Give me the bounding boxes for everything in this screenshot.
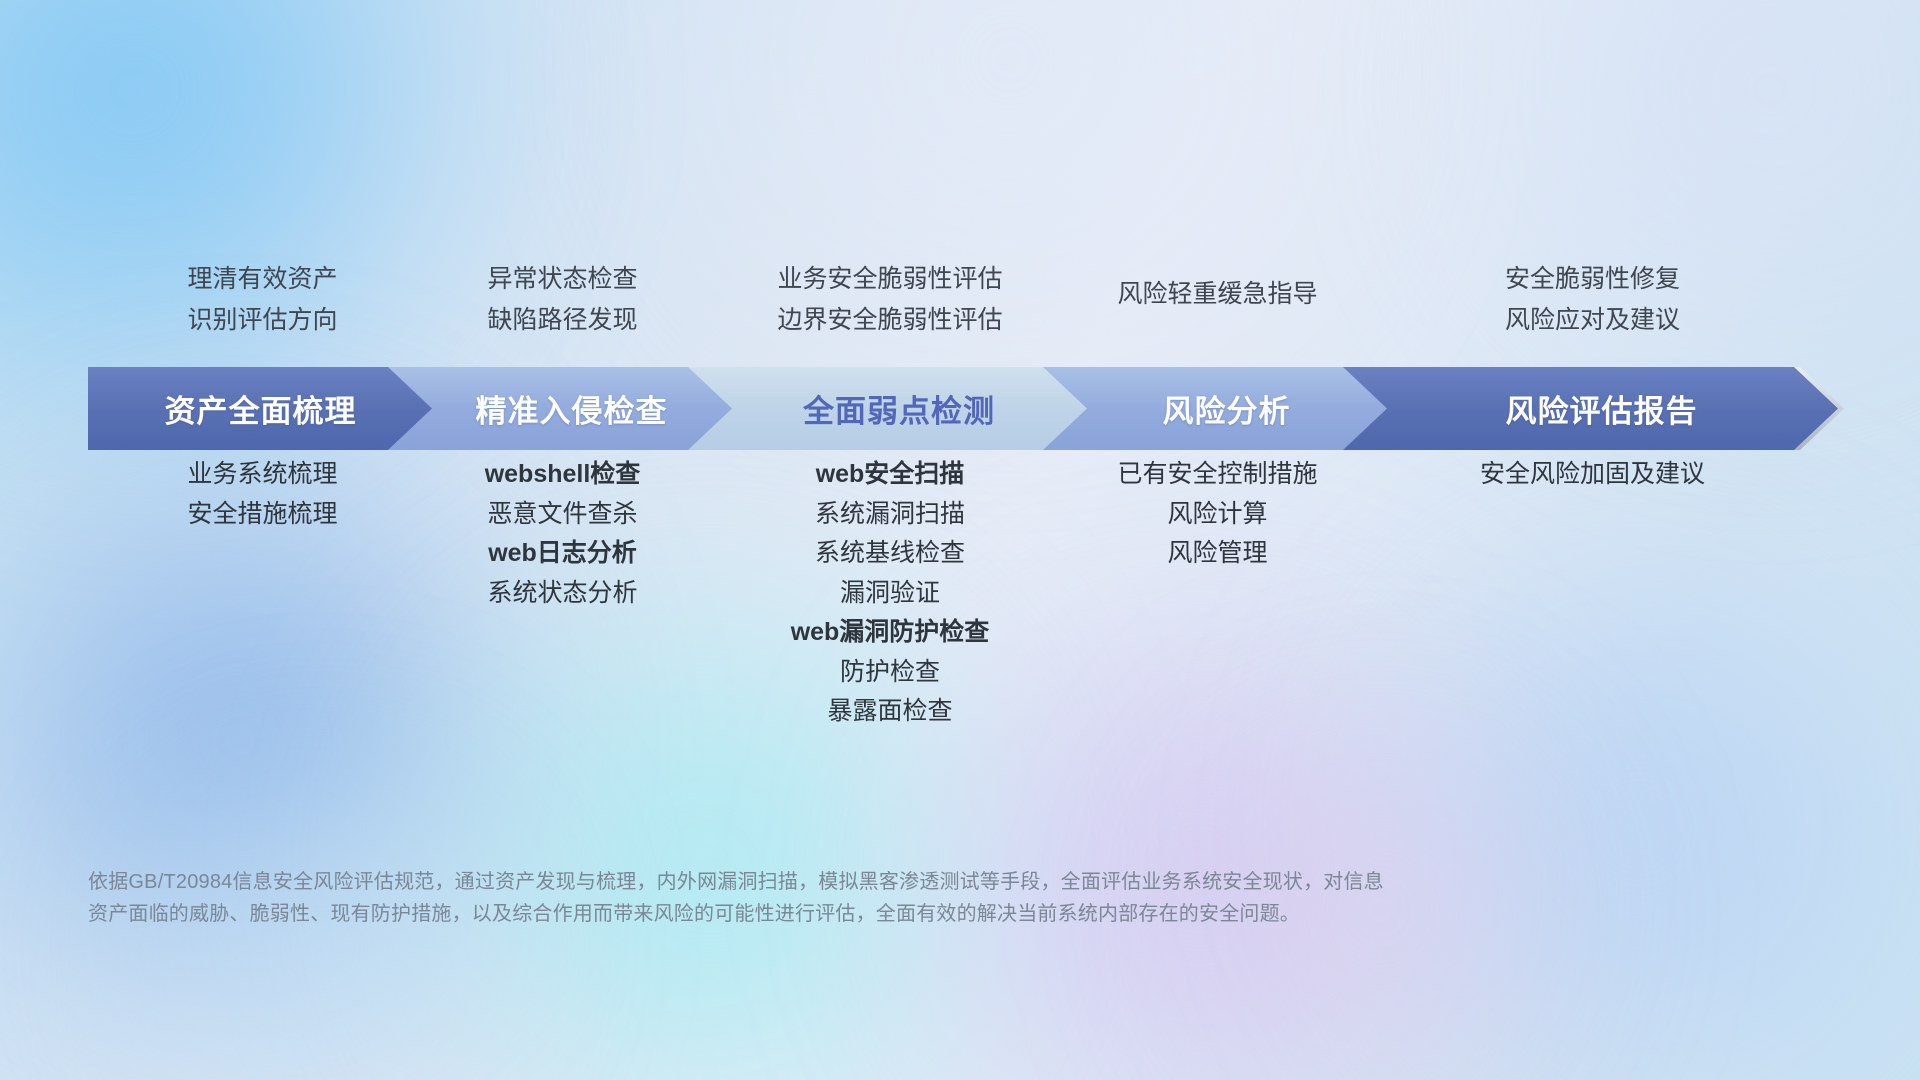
top-note-item: 异常状态检查 <box>390 259 735 300</box>
top-notes-intrusion-check: 异常状态检查缺陷路径发现 <box>390 259 735 340</box>
process-stage-asset-inventory[interactable]: 资产全面梳理 <box>88 367 433 450</box>
detail-list-item: web日志分析 <box>390 534 735 574</box>
chevron-band: 资产全面梳理精准入侵检查全面弱点检测风险分析风险评估报告 <box>88 367 1838 450</box>
footer-line-2: 资产面临的威胁、脆弱性、现有防护措施，以及综合作用而带来风险的可能性进行评估，全… <box>88 898 1588 930</box>
process-diagram: 理清有效资产识别评估方向异常状态检查缺陷路径发现业务安全脆弱性评估边界安全脆弱性… <box>0 0 1920 1080</box>
process-stage-risk-analysis[interactable]: 风险分析 <box>1043 367 1388 450</box>
detail-list-weakness-detection: web安全扫描系统漏洞扫描系统基线检查漏洞验证web漏洞防护检查防护检查暴露面检… <box>690 455 1090 732</box>
top-note-item: 安全脆弱性修复 <box>1345 259 1840 300</box>
stage-title-intrusion-check: 精准入侵检查 <box>476 386 668 431</box>
detail-list-item: webshell检查 <box>390 455 735 495</box>
stage-title-weakness-detection: 全面弱点检测 <box>803 386 995 431</box>
top-notes-weakness-detection: 业务安全脆弱性评估边界安全脆弱性评估 <box>690 259 1090 340</box>
footer-line-1: 依据GB/T20984信息安全风险评估规范，通过资产发现与梳理，内外网漏洞扫描，… <box>88 866 1588 898</box>
footer-description: 依据GB/T20984信息安全风险评估规范，通过资产发现与梳理，内外网漏洞扫描，… <box>88 866 1588 931</box>
detail-list-item: 漏洞验证 <box>690 574 1090 614</box>
detail-list-item: 安全风险加固及建议 <box>1345 455 1840 495</box>
detail-list-item: 风险管理 <box>1045 534 1390 574</box>
stage-top-notes-row: 理清有效资产识别评估方向异常状态检查缺陷路径发现业务安全脆弱性评估边界安全脆弱性… <box>90 230 1850 340</box>
detail-list-item: web安全扫描 <box>690 455 1090 495</box>
top-notes-asset-inventory: 理清有效资产识别评估方向 <box>90 259 435 340</box>
detail-list-item: 系统状态分析 <box>390 574 735 614</box>
detail-list-item: 已有安全控制措施 <box>1045 455 1390 495</box>
top-notes-risk-analysis: 风险轻重缓急指导 <box>1045 274 1390 341</box>
detail-list-item: web漏洞防护检查 <box>690 613 1090 653</box>
stage-title-asset-inventory: 资产全面梳理 <box>165 386 357 431</box>
detail-list-item: 业务系统梳理 <box>90 455 435 495</box>
detail-list-risk-analysis: 已有安全控制措施风险计算风险管理 <box>1045 455 1390 574</box>
detail-list-item: 安全措施梳理 <box>90 495 435 535</box>
top-note-item: 业务安全脆弱性评估 <box>690 259 1090 300</box>
top-note-item: 边界安全脆弱性评估 <box>690 300 1090 341</box>
detail-list-item: 恶意文件查杀 <box>390 495 735 535</box>
top-notes-risk-report: 安全脆弱性修复风险应对及建议 <box>1345 259 1840 340</box>
process-stage-intrusion-check[interactable]: 精准入侵检查 <box>388 367 733 450</box>
stage-title-risk-report: 风险评估报告 <box>1506 386 1698 431</box>
top-note-item: 风险轻重缓急指导 <box>1045 274 1390 315</box>
detail-list-asset-inventory: 业务系统梳理安全措施梳理 <box>90 455 435 534</box>
top-note-item: 理清有效资产 <box>90 259 435 300</box>
process-stage-weakness-detection[interactable]: 全面弱点检测 <box>688 367 1088 450</box>
detail-list-risk-report: 安全风险加固及建议 <box>1345 455 1840 495</box>
detail-list-item: 系统漏洞扫描 <box>690 495 1090 535</box>
detail-list-intrusion-check: webshell检查恶意文件查杀web日志分析系统状态分析 <box>390 455 735 613</box>
detail-list-item: 暴露面检查 <box>690 692 1090 732</box>
top-note-item: 风险应对及建议 <box>1345 300 1840 341</box>
stage-title-risk-analysis: 风险分析 <box>1163 386 1291 431</box>
top-note-item: 识别评估方向 <box>90 300 435 341</box>
detail-list-item: 系统基线检查 <box>690 534 1090 574</box>
top-note-item: 缺陷路径发现 <box>390 300 735 341</box>
detail-list-item: 防护检查 <box>690 653 1090 693</box>
detail-list-item: 风险计算 <box>1045 495 1390 535</box>
process-stage-risk-report[interactable]: 风险评估报告 <box>1343 367 1838 450</box>
